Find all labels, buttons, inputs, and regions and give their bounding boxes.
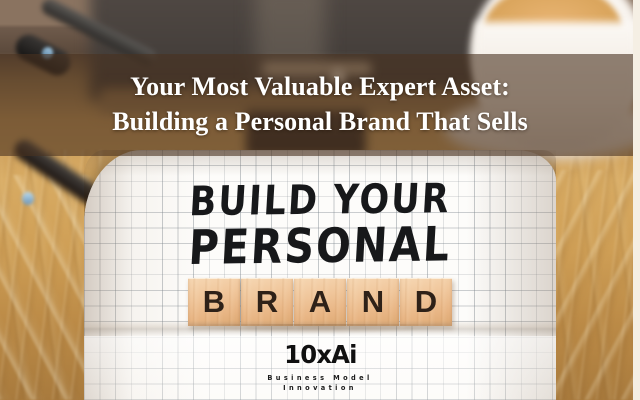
letter-tile: A [294,278,346,326]
letter-tile-glyph: B [203,284,225,320]
letter-tile: R [241,278,293,326]
handwriting-line-2: PERSONAL [84,219,556,273]
image-canvas: BUILD YOUR PERSONAL B R A N D 10xAi Busi… [0,0,640,400]
letter-tile: B [188,278,240,326]
title-line-1: Your Most Valuable Expert Asset: [130,70,510,105]
letter-tile: D [400,278,452,326]
brand-logo-mark: 10xAi [284,342,357,367]
wooden-letter-tiles: B R A N D [84,278,556,326]
title-banner: Your Most Valuable Expert Asset: Buildin… [0,54,640,156]
letter-tile-glyph: D [415,284,437,320]
brand-tagline-line-1: Business Model [84,373,556,383]
letter-tile-glyph: R [256,284,278,320]
letter-tile-glyph: A [309,284,331,320]
notepad: BUILD YOUR PERSONAL B R A N D 10xAi Busi… [84,150,556,400]
frame-border-right [633,0,640,400]
title-line-2: Building a Personal Brand That Sells [112,105,528,140]
letter-tile: N [347,278,399,326]
letter-tile-glyph: N [362,284,384,320]
marker-pen-ring [22,192,34,205]
logo-block: 10xAi Business Model Innovation www.10xA… [84,342,556,400]
brand-tagline-line-2: Innovation [84,383,556,393]
